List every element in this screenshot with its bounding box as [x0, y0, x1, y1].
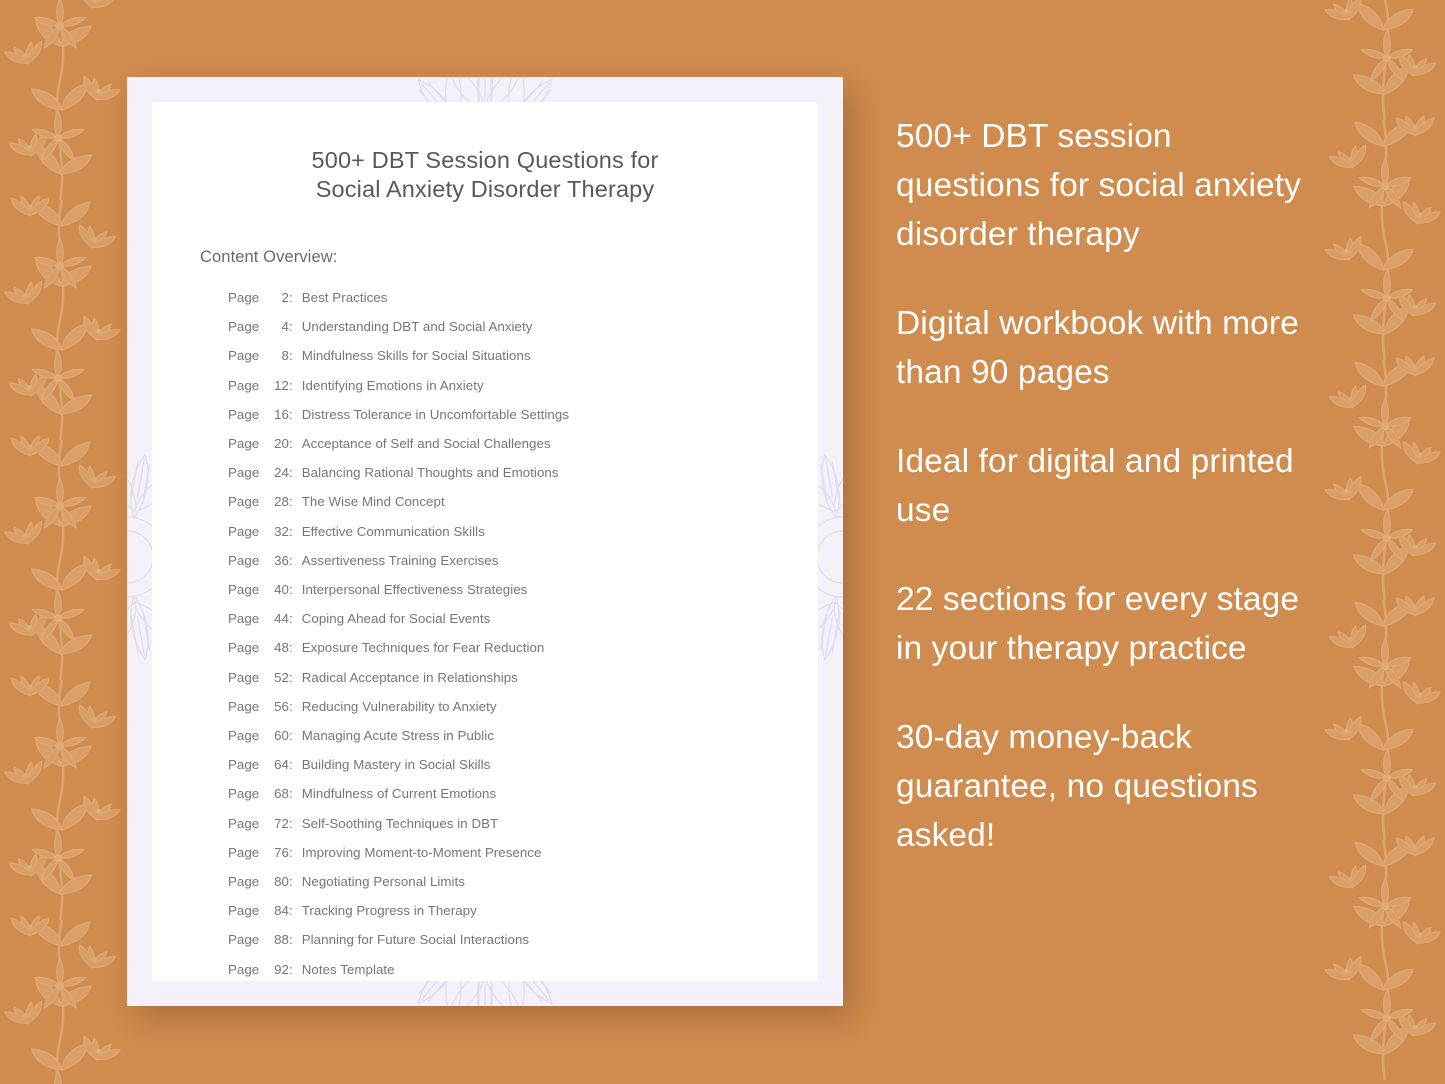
toc-page-word: Page	[228, 692, 264, 721]
toc-page-number: 68	[264, 779, 289, 808]
toc-page-word: Page	[228, 663, 264, 692]
toc-page-number: 32	[264, 517, 289, 546]
marketing-copy-block: 30-day money-back guarantee, no question…	[896, 713, 1316, 860]
toc-page-number: 20	[264, 429, 289, 458]
toc-row: Page48:Exposure Techniques for Fear Redu…	[228, 633, 774, 662]
toc-colon: :	[289, 575, 302, 604]
toc-page-word: Page	[228, 779, 264, 808]
toc-colon: :	[289, 283, 302, 312]
toc-section-title: Coping Ahead for Social Events	[302, 604, 491, 633]
toc-row: Page84:Tracking Progress in Therapy	[228, 896, 774, 925]
toc-section-title: Distress Tolerance in Uncomfortable Sett…	[302, 400, 569, 429]
toc-page-number: 76	[264, 838, 289, 867]
toc-colon: :	[289, 925, 302, 954]
toc-section-title: Building Mastery in Social Skills	[302, 750, 491, 779]
toc-row: Page40:Interpersonal Effectiveness Strat…	[228, 575, 774, 604]
toc-page-word: Page	[228, 487, 264, 516]
toc-section-title: Exposure Techniques for Fear Reduction	[302, 633, 545, 662]
toc-section-title: Effective Communication Skills	[302, 517, 485, 546]
content-overview-label: Content Overview:	[200, 248, 774, 267]
toc-colon: :	[289, 809, 302, 838]
listing-stage: 500+ DBT Session Questions for Social An…	[0, 0, 1445, 1084]
toc-section-title: Notes Template	[302, 955, 395, 984]
toc-colon: :	[289, 429, 302, 458]
marketing-copy-block: 500+ DBT session questions for social an…	[896, 112, 1316, 259]
toc-row: Page68:Mindfulness of Current Emotions	[228, 779, 774, 808]
toc-page-number: 88	[264, 925, 289, 954]
toc-row: Page2:Best Practices	[228, 283, 774, 312]
toc-row: Page28:The Wise Mind Concept	[228, 487, 774, 516]
toc-colon: :	[289, 312, 302, 341]
toc-section-title: Best Practices	[302, 283, 388, 312]
toc-page-word: Page	[228, 575, 264, 604]
marketing-copy-block: Digital workbook with more than 90 pages	[896, 299, 1316, 397]
toc-page-number: 56	[264, 692, 289, 721]
toc-page-number: 2	[264, 283, 289, 312]
toc-page-number: 16	[264, 400, 289, 429]
toc-page-number: 40	[264, 575, 289, 604]
toc-row: Page92:Notes Template	[228, 955, 774, 984]
toc-row: Page12:Identifying Emotions in Anxiety	[228, 371, 774, 400]
toc-colon: :	[289, 896, 302, 925]
page-title-line-2: Social Anxiety Disorder Therapy	[214, 175, 756, 204]
toc-colon: :	[289, 517, 302, 546]
toc-section-title: Mindfulness Skills for Social Situations	[302, 341, 531, 370]
toc-row: Page80:Negotiating Personal Limits	[228, 867, 774, 896]
toc-row: Page32:Effective Communication Skills	[228, 517, 774, 546]
toc-page-word: Page	[228, 429, 264, 458]
toc-page-number: 24	[264, 458, 289, 487]
toc-section-title: Planning for Future Social Interactions	[302, 925, 529, 954]
toc-page-number: 64	[264, 750, 289, 779]
toc-colon: :	[289, 487, 302, 516]
toc-row: Page60:Managing Acute Stress in Public	[228, 721, 774, 750]
toc-row: Page20:Acceptance of Self and Social Cha…	[228, 429, 774, 458]
toc-page-word: Page	[228, 809, 264, 838]
toc-page-word: Page	[228, 604, 264, 633]
toc-colon: :	[289, 721, 302, 750]
toc-section-title: Identifying Emotions in Anxiety	[302, 371, 484, 400]
toc-colon: :	[289, 955, 302, 984]
toc-page-number: 12	[264, 371, 289, 400]
toc-section-title: Self-Soothing Techniques in DBT	[302, 809, 498, 838]
toc-page-word: Page	[228, 633, 264, 662]
toc-section-title: The Wise Mind Concept	[302, 487, 445, 516]
toc-colon: :	[289, 867, 302, 896]
toc-page-word: Page	[228, 371, 264, 400]
toc-section-title: Negotiating Personal Limits	[302, 867, 465, 896]
toc-page-number: 92	[264, 955, 289, 984]
toc-row: Page8:Mindfulness Skills for Social Situ…	[228, 341, 774, 370]
toc-section-title: Improving Moment-to-Moment Presence	[302, 838, 542, 867]
toc-section-title: Interpersonal Effectiveness Strategies	[302, 575, 528, 604]
toc-page-word: Page	[228, 721, 264, 750]
toc-colon: :	[289, 546, 302, 575]
toc-page-number: 52	[264, 663, 289, 692]
toc-colon: :	[289, 779, 302, 808]
toc-row: Page56:Reducing Vulnerability to Anxiety	[228, 692, 774, 721]
toc-row: Page64:Building Mastery in Social Skills	[228, 750, 774, 779]
toc-page-number: 44	[264, 604, 289, 633]
toc-section-title: Reducing Vulnerability to Anxiety	[302, 692, 497, 721]
toc-row: Page76:Improving Moment-to-Moment Presen…	[228, 838, 774, 867]
toc-colon: :	[289, 838, 302, 867]
toc-row: Page44:Coping Ahead for Social Events	[228, 604, 774, 633]
toc-colon: :	[289, 458, 302, 487]
toc-colon: :	[289, 692, 302, 721]
toc-row: Page52:Radical Acceptance in Relationshi…	[228, 663, 774, 692]
toc-page-word: Page	[228, 896, 264, 925]
marketing-copy-block: Ideal for digital and printed use	[896, 437, 1316, 535]
toc-colon: :	[289, 400, 302, 429]
toc-page-word: Page	[228, 458, 264, 487]
toc-page-word: Page	[228, 838, 264, 867]
toc-page-number: 4	[264, 312, 289, 341]
toc-colon: :	[289, 633, 302, 662]
toc-section-title: Tracking Progress in Therapy	[302, 896, 477, 925]
toc-row: Page24:Balancing Rational Thoughts and E…	[228, 458, 774, 487]
toc-page-word: Page	[228, 283, 264, 312]
toc-section-title: Radical Acceptance in Relationships	[302, 663, 518, 692]
toc-page-word: Page	[228, 312, 264, 341]
toc-row: Page4:Understanding DBT and Social Anxie…	[228, 312, 774, 341]
toc-page-word: Page	[228, 400, 264, 429]
page-title-line-1: 500+ DBT Session Questions for	[214, 146, 756, 175]
toc-page-number: 84	[264, 896, 289, 925]
toc-colon: :	[289, 341, 302, 370]
toc-row: Page36:Assertiveness Training Exercises	[228, 546, 774, 575]
marketing-copy: 500+ DBT session questions for social an…	[896, 112, 1316, 860]
toc-colon: :	[289, 663, 302, 692]
toc-section-title: Assertiveness Training Exercises	[302, 546, 499, 575]
toc-colon: :	[289, 604, 302, 633]
toc-page-number: 28	[264, 487, 289, 516]
toc-colon: :	[289, 371, 302, 400]
toc-section-title: Managing Acute Stress in Public	[302, 721, 494, 750]
toc-page-word: Page	[228, 546, 264, 575]
toc-page-word: Page	[228, 517, 264, 546]
toc-page-word: Page	[228, 867, 264, 896]
toc-row: Page72:Self-Soothing Techniques in DBT	[228, 809, 774, 838]
toc-page-number: 60	[264, 721, 289, 750]
toc-section-title: Balancing Rational Thoughts and Emotions	[302, 458, 559, 487]
toc-page-number: 48	[264, 633, 289, 662]
toc-page-number: 36	[264, 546, 289, 575]
toc-colon: :	[289, 750, 302, 779]
toc-row: Page88:Planning for Future Social Intera…	[228, 925, 774, 954]
card-frame: 500+ DBT Session Questions for Social An…	[127, 77, 843, 1006]
table-of-contents: Page2:Best PracticesPage4:Understanding …	[228, 283, 774, 984]
toc-section-title: Mindfulness of Current Emotions	[302, 779, 496, 808]
toc-page-number: 8	[264, 341, 289, 370]
page-title: 500+ DBT Session Questions for Social An…	[196, 146, 774, 204]
workbook-preview-card[interactable]: 500+ DBT Session Questions for Social An…	[127, 77, 843, 1006]
toc-page-word: Page	[228, 750, 264, 779]
marketing-copy-block: 22 sections for every stage in your ther…	[896, 575, 1316, 673]
toc-section-title: Acceptance of Self and Social Challenges	[302, 429, 551, 458]
toc-page-number: 72	[264, 809, 289, 838]
toc-page-number: 80	[264, 867, 289, 896]
toc-page-word: Page	[228, 341, 264, 370]
toc-row: Page16:Distress Tolerance in Uncomfortab…	[228, 400, 774, 429]
toc-page-word: Page	[228, 925, 264, 954]
toc-section-title: Understanding DBT and Social Anxiety	[302, 312, 533, 341]
toc-page-word: Page	[228, 955, 264, 984]
workbook-page: 500+ DBT Session Questions for Social An…	[152, 102, 818, 981]
